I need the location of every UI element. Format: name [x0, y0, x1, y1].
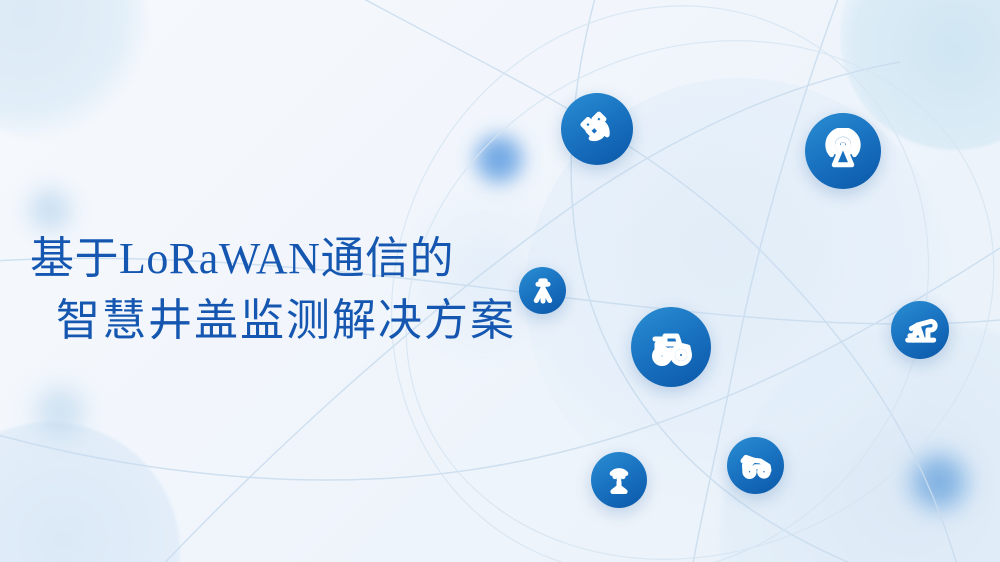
title-block: 基于LoRaWAN通信的 智慧井盖监测解决方案	[30, 228, 570, 352]
slide-canvas: 基于LoRaWAN通信的 智慧井盖监测解决方案	[0, 0, 1000, 562]
node-satellite[interactable]	[561, 93, 633, 165]
oil-pump-icon	[902, 312, 938, 348]
antenna-tower-icon	[820, 128, 866, 174]
node-antenna-tower[interactable]	[805, 113, 881, 189]
beacon-icon	[602, 463, 636, 497]
title-line-1: 基于LoRaWAN通信的	[30, 228, 570, 290]
node-beacon[interactable]	[591, 452, 647, 508]
tractor-icon	[646, 322, 696, 372]
node-harvester[interactable]	[727, 437, 784, 494]
title-line-2: 智慧井盖监测解决方案	[30, 290, 570, 352]
node-oil-pump[interactable]	[891, 301, 949, 359]
satellite-icon	[576, 108, 618, 150]
harvester-icon	[738, 448, 774, 484]
node-tractor[interactable]	[631, 307, 711, 387]
